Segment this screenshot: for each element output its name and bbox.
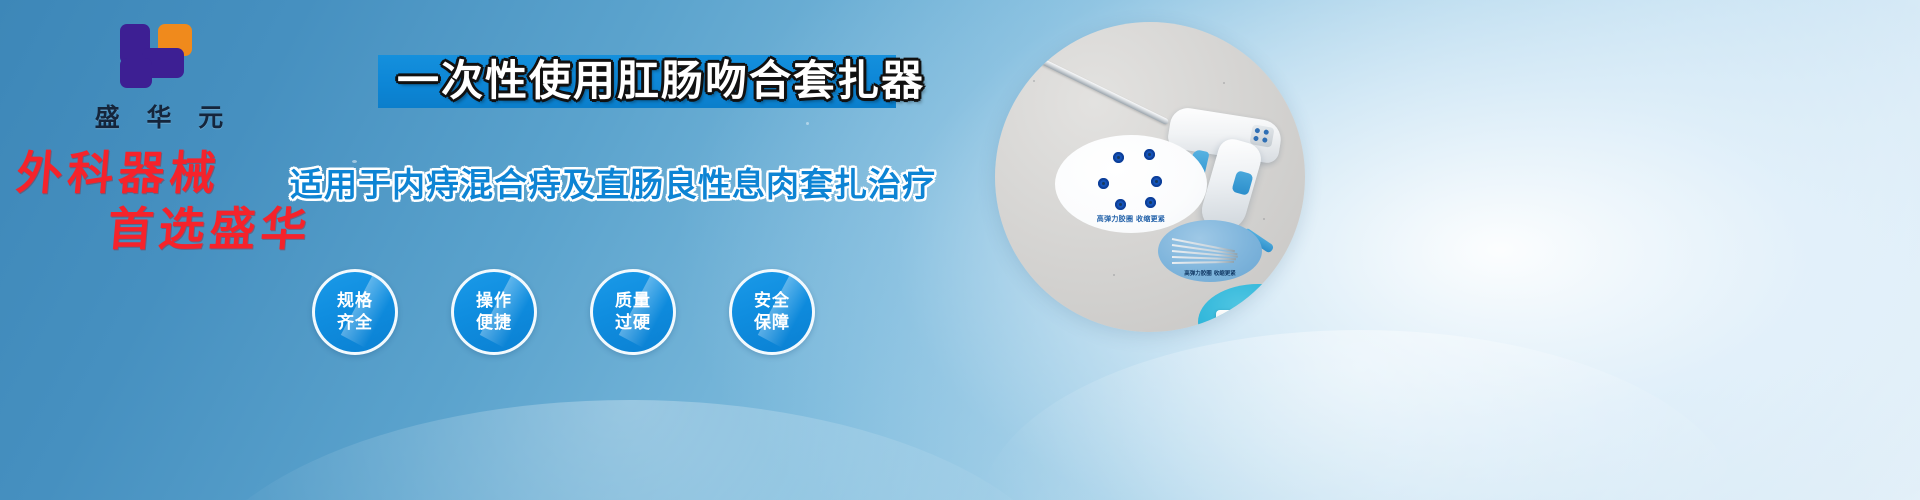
feature-badge-specification[interactable]: 规格 齐全 xyxy=(312,269,398,355)
rubber-band-dot xyxy=(1145,197,1156,208)
feature-badge-quality[interactable]: 质量 过硬 xyxy=(590,269,676,355)
rubber-band-dot xyxy=(1144,149,1155,160)
cartridge-tip xyxy=(1286,314,1300,326)
product-photo: 高弹力胶圈 收缩更紧 高弹力胶圈 收缩更紧 xyxy=(995,22,1305,332)
dust-speck xyxy=(1263,218,1265,220)
feature-badge-line-2: 齐全 xyxy=(337,312,373,334)
background-sweep-right xyxy=(980,330,1740,500)
cartridge-inset xyxy=(1198,284,1305,332)
rubber-band-dot xyxy=(1151,176,1162,187)
feature-badge-list: 规格 齐全 操作 便捷 质量 过硬 安全 保障 xyxy=(312,269,872,361)
feature-badge-line-2: 便捷 xyxy=(476,312,512,334)
rubber-band-dot xyxy=(1113,152,1124,163)
feature-badge-line-2: 过硬 xyxy=(615,312,651,334)
shenghuayuan-block-logo-icon xyxy=(120,24,198,90)
promo-banner: 盛 华 元 外科器械 首选盛华 一次性使用肛肠吻合套扎器 适用于内痔混合痔及直肠… xyxy=(0,0,1920,500)
feature-badge-operation[interactable]: 操作 便捷 xyxy=(451,269,537,355)
feature-badge-safety[interactable]: 安全 保障 xyxy=(729,269,815,355)
slogan-line-2: 首选盛华 xyxy=(105,204,354,256)
brand-name: 盛 华 元 xyxy=(64,98,254,134)
feature-badge-line-1: 操作 xyxy=(476,290,512,312)
needle-icon xyxy=(1172,261,1234,264)
rubber-band-dot xyxy=(1098,178,1109,189)
rubber-bands-inset: 高弹力胶圈 收缩更紧 xyxy=(1055,135,1207,233)
rubber-bands-caption: 高弹力胶圈 收缩更紧 xyxy=(1055,214,1207,224)
rubber-band-dot xyxy=(1115,199,1126,210)
dust-speck xyxy=(1223,82,1225,84)
needles-inset: 高弹力胶圈 收缩更紧 xyxy=(1158,220,1262,282)
dust-speck xyxy=(1033,80,1035,82)
feature-badge-line-1: 规格 xyxy=(337,290,373,312)
slogan-line-1: 外科器械 xyxy=(14,146,223,200)
feature-badge-line-1: 安全 xyxy=(754,290,790,312)
feature-badge-line-2: 保障 xyxy=(754,312,790,334)
page-subtitle: 适用于内痔混合痔及直肠良性息肉套扎治疗 xyxy=(290,158,910,206)
sparkle-dot xyxy=(806,122,809,125)
instrument-shaft xyxy=(1016,46,1170,125)
cartridge-ring xyxy=(1256,310,1260,330)
feature-badge-line-1: 质量 xyxy=(615,290,651,312)
cartridge-body xyxy=(1216,310,1294,330)
page-title: 一次性使用肛肠吻合套扎器 xyxy=(396,48,926,114)
background-sweep-left xyxy=(180,400,1080,500)
cartridge-ring xyxy=(1266,310,1270,330)
dust-speck xyxy=(1113,274,1115,276)
needles-caption: 高弹力胶圈 收缩更紧 xyxy=(1158,269,1262,277)
brand-logo-block[interactable]: 盛 华 元 xyxy=(64,24,254,134)
